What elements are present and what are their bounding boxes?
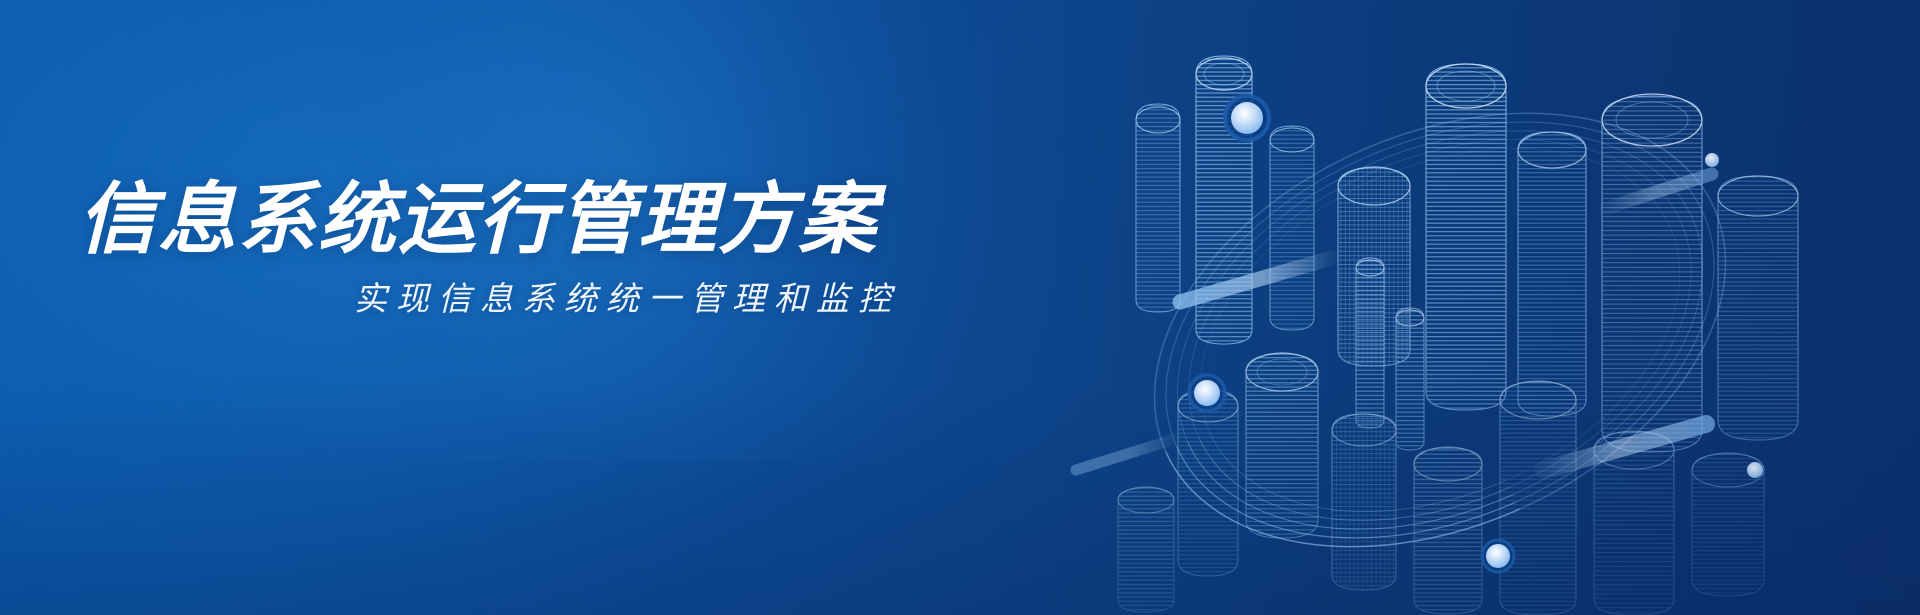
banner-root: 信息系统运行管理方案 实现信息系统统一管理和监控 <box>0 0 1920 615</box>
page-title: 信息系统运行管理方案 <box>78 178 978 261</box>
headline-block: 信息系统运行管理方案 实现信息系统统一管理和监控 <box>78 178 978 318</box>
background-vignette-bottom <box>0 381 1920 615</box>
page-subtitle: 实现信息系统统一管理和监控 <box>78 279 978 319</box>
